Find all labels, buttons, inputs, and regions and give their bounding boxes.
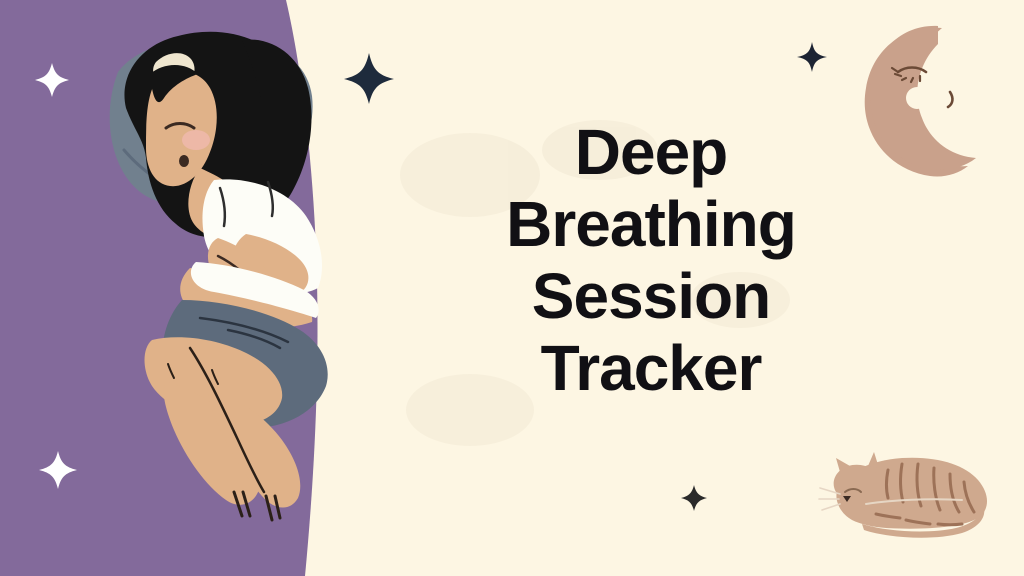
cheek-blush — [182, 130, 210, 150]
mouth — [179, 155, 189, 167]
title-line-3: Session — [398, 260, 904, 332]
title-line-1: Deep — [398, 116, 904, 188]
poster-title: Deep Breathing Session Tracker — [398, 116, 904, 404]
moon-crater — [906, 87, 928, 109]
poster-canvas: Deep Breathing Session Tracker — [0, 0, 1024, 576]
title-line-2: Breathing — [398, 188, 904, 260]
title-line-4: Tracker — [398, 332, 904, 404]
